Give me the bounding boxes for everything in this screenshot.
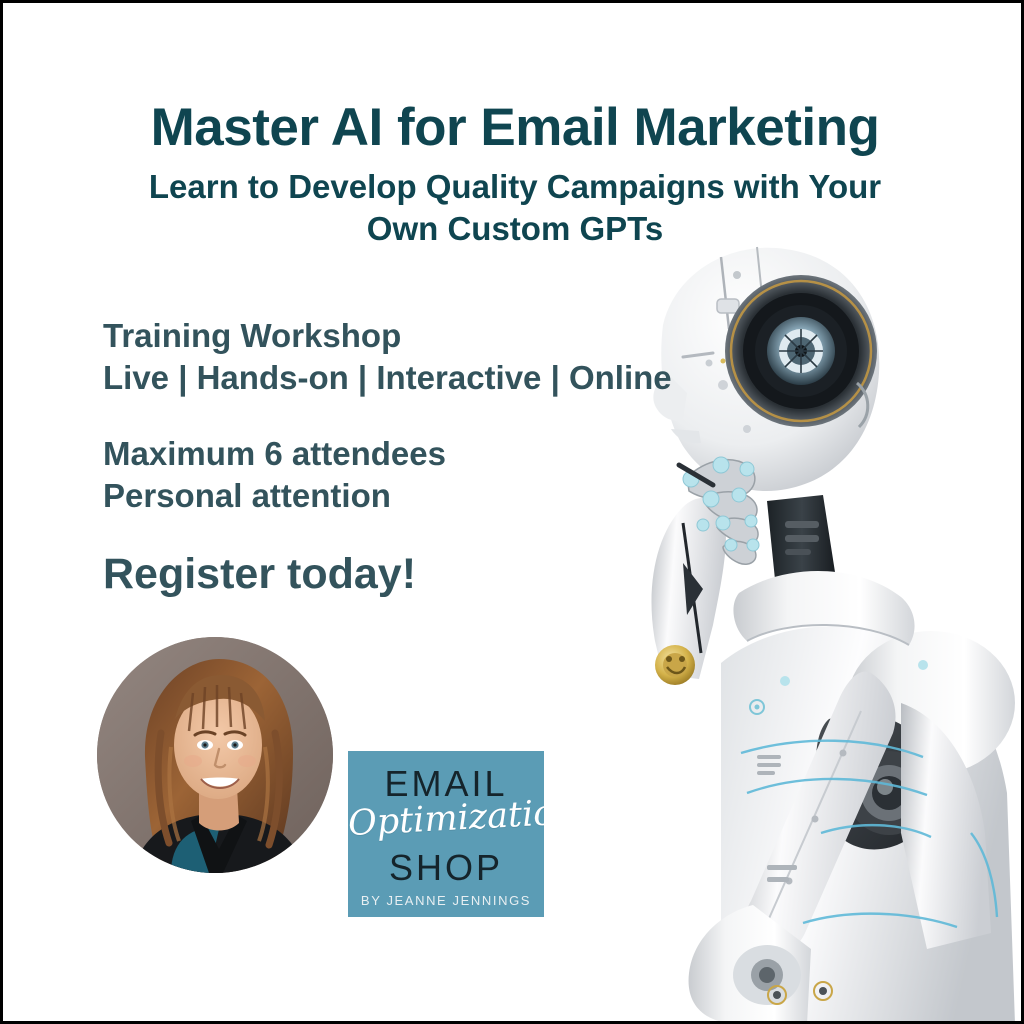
details-block: Training Workshop Live | Hands-on | Inte…: [103, 315, 703, 598]
promo-poster: Master AI for Email Marketing Learn to D…: [0, 0, 1024, 1024]
capacity-line: Maximum 6 attendees: [103, 433, 703, 475]
logo-byline: BY JEANNE JENNINGS: [348, 893, 544, 908]
register-cta[interactable]: Register today!: [103, 551, 703, 598]
workshop-group: Training Workshop Live | Hands-on | Inte…: [103, 315, 703, 399]
logo-word-shop: SHOP: [348, 847, 544, 889]
format-line: Live | Hands-on | Interactive | Online: [103, 357, 703, 399]
attention-line: Personal attention: [103, 475, 703, 517]
workshop-label: Training Workshop: [103, 315, 703, 357]
brand-logo: EMAIL Optimization SHOP BY JEANNE JENNIN…: [348, 751, 544, 917]
page-subtitle: Learn to Develop Quality Campaigns with …: [3, 166, 1024, 250]
headline-block: Master AI for Email Marketing Learn to D…: [3, 99, 1024, 251]
capacity-group: Maximum 6 attendees Personal attention: [103, 433, 703, 517]
page-title: Master AI for Email Marketing: [3, 99, 1024, 156]
avatar: [97, 637, 333, 873]
